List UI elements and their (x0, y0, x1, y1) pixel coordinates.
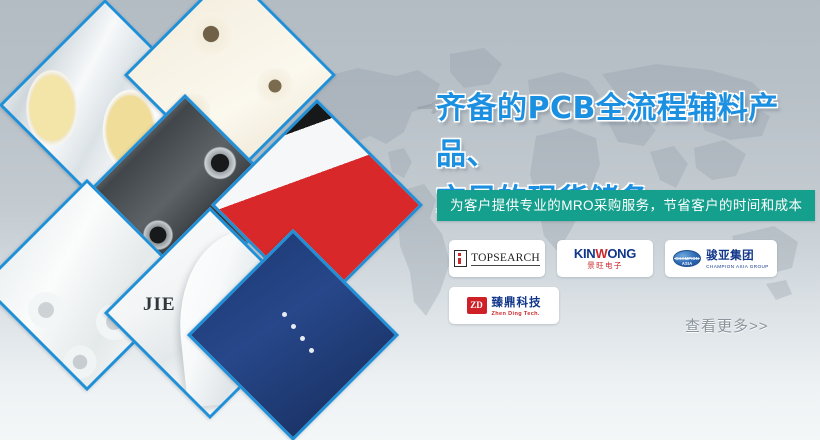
partner-logo-kinwong[interactable]: KINWONG 景旺电子 (557, 240, 653, 277)
topsearch-label: TOPSEARCH (471, 252, 540, 266)
banner-subtitle-bar: 为客户提供专业的MRO采购服务，节省客户的时间和成本 (437, 190, 815, 221)
partner-logo-champion-asia[interactable]: CHAMPION ASIA 骏亚集团 CHAMPION ASIA GROUP (665, 240, 777, 277)
globe-icon-text: CHAMPION ASIA (674, 256, 700, 266)
promo-banner: JIE 齐备的PCB全流程辅料产品、 充足的现货储备 为客户提供专业的MRO采购… (0, 0, 820, 440)
peel-film-print-text: JIE (143, 294, 176, 316)
product-collage: JIE (0, 0, 400, 440)
zhen-ding-label-en: Zhen Ding Tech. (492, 312, 542, 318)
blue-sheet-dots (282, 312, 314, 360)
partner-logo-topsearch[interactable]: TOPSEARCH (449, 240, 545, 277)
zhen-ding-mark-icon (467, 297, 487, 314)
kinwong-label-cn: 景旺电子 (574, 262, 636, 270)
globe-icon: CHAMPION ASIA (673, 250, 701, 267)
champion-asia-label-cn: 骏亚集团 (706, 250, 754, 262)
champion-asia-label-en: CHAMPION ASIA GROUP (706, 265, 769, 270)
zhen-ding-label-cn: 臻鼎科技 (492, 295, 542, 309)
partner-logo-zhen-ding[interactable]: 臻鼎科技 Zhen Ding Tech. (449, 287, 559, 324)
kinwong-label-en-left: KIN (574, 246, 596, 261)
view-more-link[interactable]: 查看更多>> (685, 315, 769, 336)
kinwong-label-en-right: ONG (607, 246, 636, 261)
partner-logo-row-1: TOPSEARCH KINWONG 景旺电子 CHAMPION ASIA 骏亚集… (449, 240, 809, 277)
kinwong-label-en: KINWONG (574, 247, 636, 260)
kinwong-label-en-mid: W (595, 246, 607, 261)
topsearch-mark-icon (454, 250, 467, 267)
